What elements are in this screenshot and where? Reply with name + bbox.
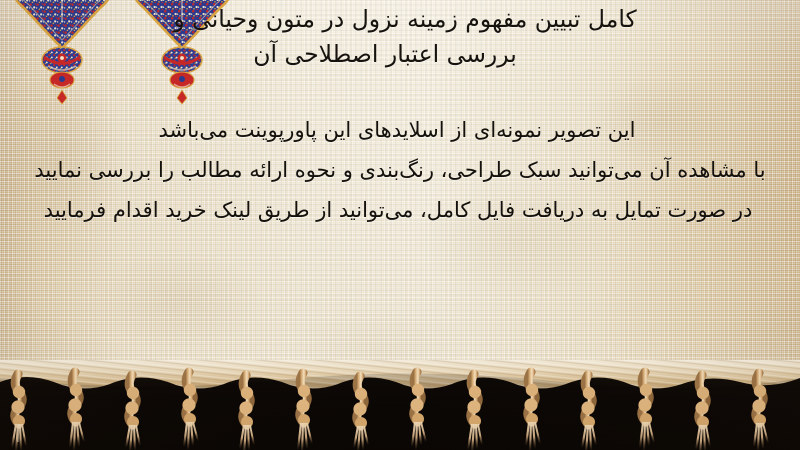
slide-title: کامل تبیین مفهوم زمینه نزول در متون وحیا… [0,2,800,72]
slide-body-line-1: این تصویر نمونه‌ای از اسلایدهای این پاور… [0,110,797,150]
fringe-artwork [0,360,800,450]
slide-title-line-1: کامل تبیین مفهوم زمینه نزول در متون وحیا… [10,2,800,37]
slide-body-line-2: با مشاهده آن می‌توانید سبک طراحی، رنگ‌بن… [0,150,800,190]
slide-body: این تصویر نمونه‌ای از اسلایدهای این پاور… [0,110,800,230]
tassel [125,375,140,450]
tassel [695,375,710,450]
carpet-tassel-fringe [0,360,800,450]
slide-body-line-3: در صورت تمایل به دریافت فایل کامل، می‌تو… [0,190,798,230]
slide-title-line-2: بررسی اعتبار اصطلاحی آن [10,37,800,72]
slide-text-area: کامل تبیین مفهوم زمینه نزول در متون وحیا… [0,0,800,386]
slide-canvas: کامل تبیین مفهوم زمینه نزول در متون وحیا… [0,0,800,450]
